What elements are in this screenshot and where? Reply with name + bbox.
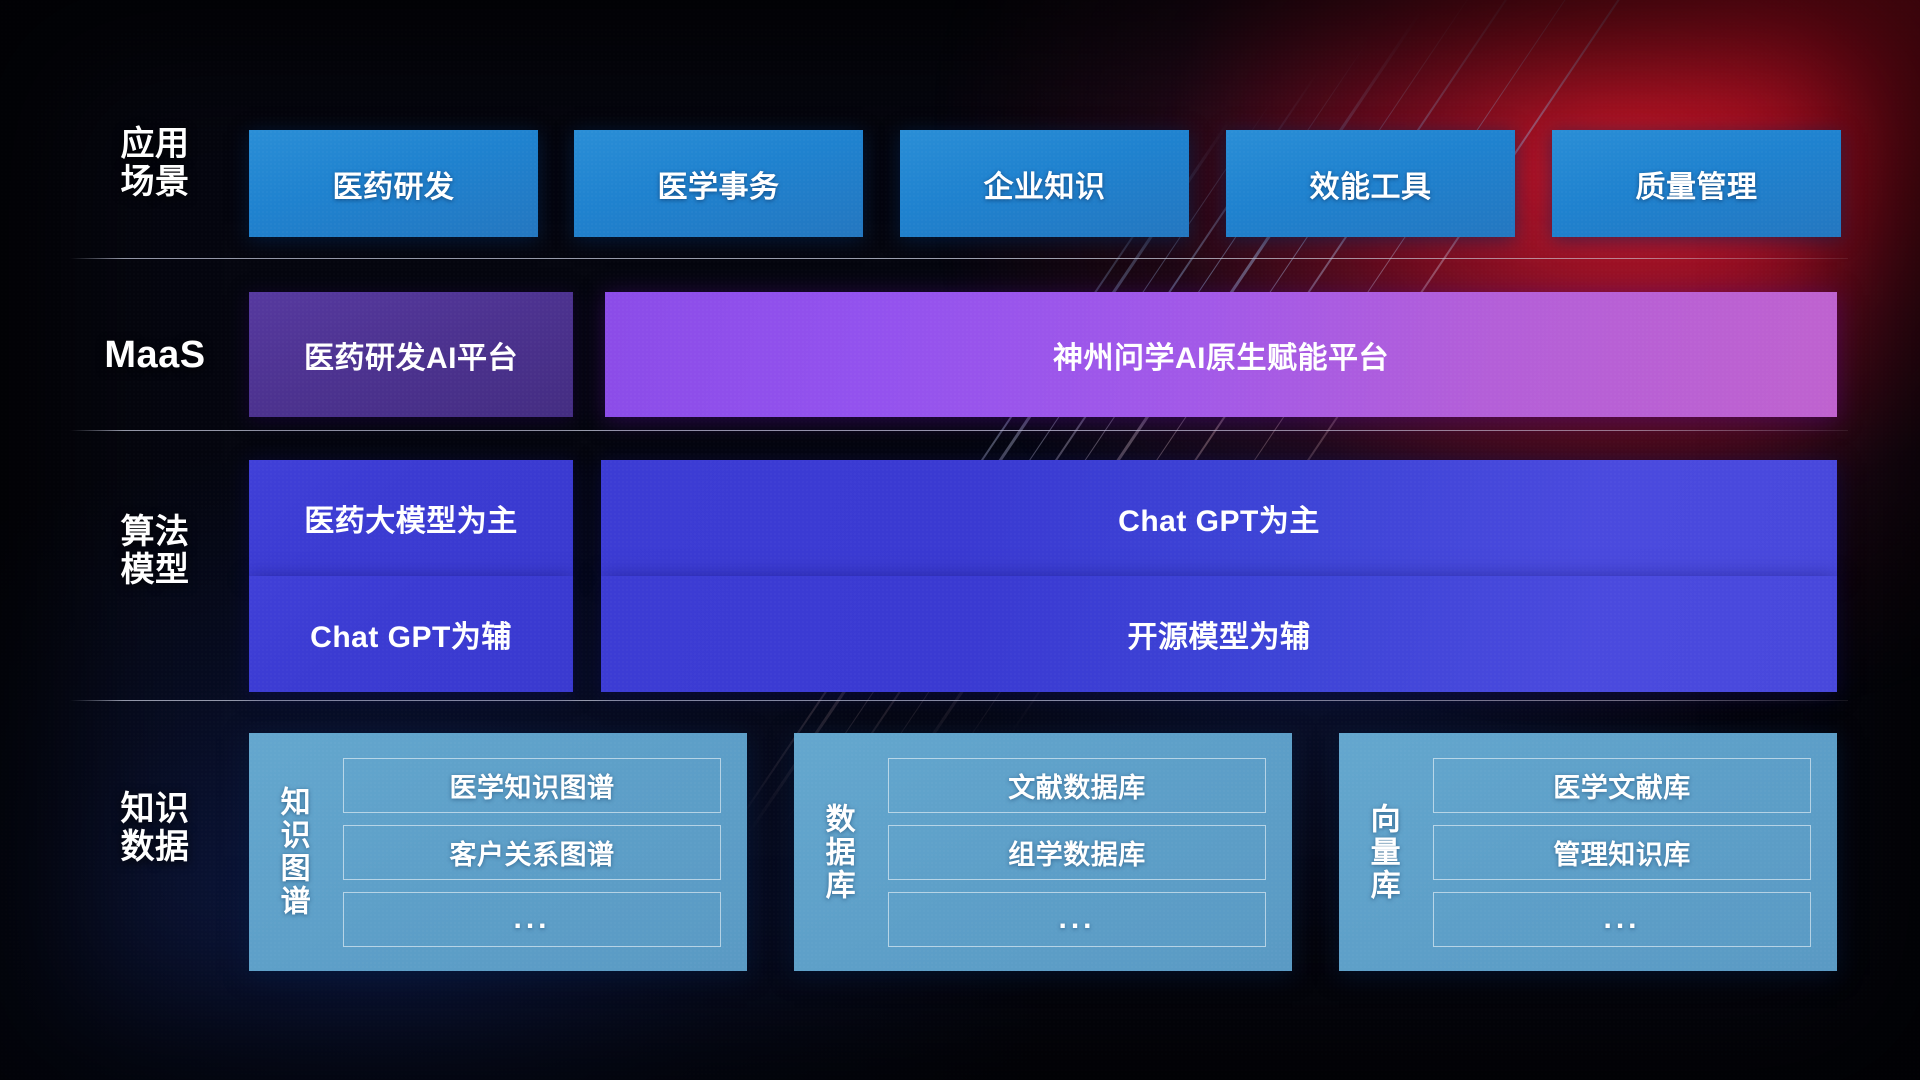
app-box-enterprise-knowledge[interactable]: 企业知识 [900, 130, 1189, 237]
app-box-medical-affairs[interactable]: 医学事务 [574, 130, 863, 237]
knowledge-panel-vector-store[interactable]: 向量库 医学文献库 管理知识库 ... [1339, 733, 1837, 971]
knowledge-item-medical-literature-store[interactable]: 医学文献库 [1433, 758, 1811, 813]
knowledge-panel-knowledge-graph-items: 医学知识图谱 客户关系图谱 ... [335, 740, 747, 965]
app-box-efficiency-tools[interactable]: 效能工具 [1226, 130, 1515, 237]
divider-algorithm-knowledge [70, 700, 1848, 701]
app-box-quality-management[interactable]: 质量管理 [1552, 130, 1841, 237]
knowledge-item-more-vector-store[interactable]: ... [1433, 892, 1811, 947]
app-box-efficiency-tools-label: 效能工具 [1310, 162, 1432, 206]
app-box-quality-management-label: 质量管理 [1636, 162, 1758, 206]
row-label-knowledge: 知识 数据 [70, 790, 240, 866]
knowledge-item-literature-database[interactable]: 文献数据库 [888, 758, 1266, 813]
maas-box-shenzhou-wenxue-platform-label: 神州问学AI原生赋能平台 [1053, 333, 1389, 377]
row-label-application: 应用 场景 [70, 125, 240, 201]
knowledge-item-management-knowledge-store[interactable]: 管理知识库 [1433, 825, 1811, 880]
app-box-enterprise-knowledge-label: 企业知识 [984, 162, 1106, 206]
algo-box-chatgpt-primary-label: Chat GPT为主 [1118, 496, 1320, 540]
app-box-pharma-rd[interactable]: 医药研发 [249, 130, 538, 237]
knowledge-panel-knowledge-graph-label: 知识图谱 [249, 786, 335, 918]
maas-box-pharma-ai-platform[interactable]: 医药研发AI平台 [249, 292, 573, 417]
knowledge-panel-database[interactable]: 数据库 文献数据库 组学数据库 ... [794, 733, 1292, 971]
algo-box-opensource-secondary-label: 开源模型为辅 [1128, 612, 1311, 656]
knowledge-panel-vector-store-items: 医学文献库 管理知识库 ... [1425, 740, 1837, 965]
row-label-maas-line-1: MaaS [70, 334, 240, 377]
knowledge-item-customer-relation-graph[interactable]: 客户关系图谱 [343, 825, 721, 880]
algo-box-chatgpt-secondary-label: Chat GPT为辅 [310, 612, 512, 656]
knowledge-panel-vector-store-label: 向量库 [1339, 803, 1425, 902]
knowledge-panel-database-items: 文献数据库 组学数据库 ... [880, 740, 1292, 965]
algo-box-pharma-llm-primary-label: 医药大模型为主 [304, 496, 518, 540]
divider-maas-algorithm [70, 430, 1848, 431]
row-label-algorithm-line-2: 模型 [70, 551, 240, 589]
algo-box-pharma-llm-primary[interactable]: 医药大模型为主 [249, 460, 573, 576]
maas-box-shenzhou-wenxue-platform[interactable]: 神州问学AI原生赋能平台 [605, 292, 1837, 417]
app-box-medical-affairs-label: 医学事务 [658, 162, 780, 206]
row-label-application-line-1: 应用 [70, 125, 240, 163]
algo-box-chatgpt-secondary[interactable]: Chat GPT为辅 [249, 576, 573, 692]
architecture-diagram: 应用 场景 医药研发 医学事务 企业知识 效能工具 质量管理 MaaS 医药研发… [0, 0, 1920, 1080]
knowledge-item-medical-knowledge-graph[interactable]: 医学知识图谱 [343, 758, 721, 813]
knowledge-item-more-knowledge-graph[interactable]: ... [343, 892, 721, 947]
row-label-algorithm-line-1: 算法 [70, 513, 240, 551]
knowledge-item-omics-database[interactable]: 组学数据库 [888, 825, 1266, 880]
row-label-maas: MaaS [70, 334, 240, 377]
maas-box-pharma-ai-platform-label: 医药研发AI平台 [304, 333, 518, 377]
knowledge-panel-knowledge-graph[interactable]: 知识图谱 医学知识图谱 客户关系图谱 ... [249, 733, 747, 971]
knowledge-item-more-database[interactable]: ... [888, 892, 1266, 947]
algo-box-opensource-secondary[interactable]: 开源模型为辅 [601, 576, 1837, 692]
row-label-knowledge-line-1: 知识 [70, 790, 240, 828]
divider-application-maas [70, 258, 1848, 259]
row-label-knowledge-line-2: 数据 [70, 828, 240, 866]
row-label-algorithm: 算法 模型 [70, 513, 240, 589]
algo-box-chatgpt-primary[interactable]: Chat GPT为主 [601, 460, 1837, 576]
app-box-pharma-rd-label: 医药研发 [333, 162, 455, 206]
knowledge-panel-database-label: 数据库 [794, 803, 880, 902]
row-label-application-line-2: 场景 [70, 163, 240, 201]
